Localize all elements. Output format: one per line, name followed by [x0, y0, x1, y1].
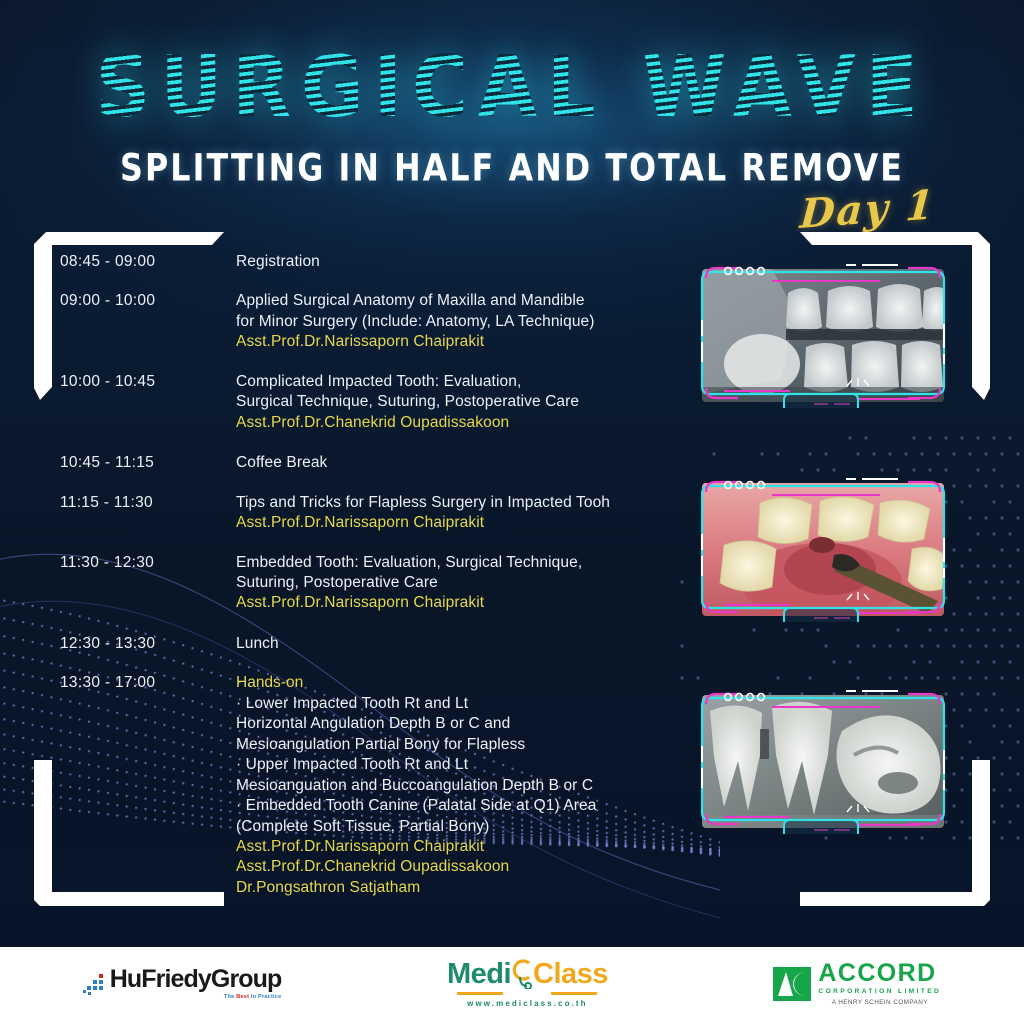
schedule-line: Embedded Tooth: Evaluation, Surgical Tec…: [236, 553, 680, 573]
schedule-line: Mesioangulation Partial Bony for Flaples…: [236, 735, 680, 755]
mediclass-url: www.mediclass.co.th: [467, 999, 588, 1008]
schedule-row: 11:15 - 11:30 Tips and Tricks for Flaple…: [60, 493, 680, 534]
logo-mediclass: Medi Class www.mediclass.co.th: [447, 959, 608, 1008]
title-block: SURGICAL WAVE SPLITTING IN HALF AND TOTA…: [0, 46, 1024, 187]
schedule-line: Registration: [236, 252, 680, 272]
schedule-row: 08:45 - 09:00 Registration: [60, 252, 680, 272]
schedule-line: · Embedded Tooth Canine (Palatal Side at…: [236, 796, 680, 816]
schedule-line: · Lower Impacted Tooth Rt and Lt: [236, 694, 680, 714]
schedule-time: 09:00 - 10:00: [60, 291, 236, 352]
schedule-body: Registration: [236, 252, 680, 272]
schedule-row: 11:30 - 12:30 Embedded Tooth: Evaluation…: [60, 553, 680, 614]
logo-hufriedygroup: HuFriedyGroup The Best In Practice: [83, 967, 282, 1000]
schedule-time: 11:15 - 11:30: [60, 493, 236, 534]
page-title: SURGICAL WAVE: [91, 46, 932, 131]
schedule-body: Applied Surgical Anatomy of Maxilla and …: [236, 291, 680, 352]
tagline-prefix: The: [224, 994, 236, 1000]
schedule-time: 08:45 - 09:00: [60, 252, 236, 272]
schedule-row: 09:00 - 10:00 Applied Surgical Anatomy o…: [60, 291, 680, 352]
surgical-photo-image: [702, 483, 944, 616]
image-card-xray-1: [694, 258, 952, 408]
schedule-row: 10:45 - 11:15 Coffee Break: [60, 453, 680, 473]
schedule-time: 10:00 - 10:45: [60, 372, 236, 433]
tagline-bold: Best: [236, 994, 249, 1000]
schedule-line: Lunch: [236, 634, 680, 654]
schedule-line: Coffee Break: [236, 453, 680, 473]
hufriedy-dots-icon: [83, 972, 107, 996]
handson-heading: Hands-on: [236, 673, 680, 693]
schedule-row: 12:30 - 13:30 Lunch: [60, 634, 680, 654]
schedule-line: Surgical Technique, Suturing, Postoperat…: [236, 392, 680, 412]
schedule-row-handson: 13:30 - 17:00 Hands-on · Lower Impacted …: [60, 673, 680, 898]
schedule-speaker: Asst.Prof.Dr.Narissaporn Chaiprakit: [236, 593, 680, 613]
schedule-time: 11:30 - 12:30: [60, 553, 236, 614]
schedule-list: 08:45 - 09:00 Registration 09:00 - 10:00…: [60, 252, 680, 917]
mediclass-name-part2: Class: [533, 960, 608, 989]
logo-accord: ACCORD CORPORATION LIMITED A HENRY SCHEI…: [773, 961, 941, 1006]
mediclass-name-part1: Medi: [447, 960, 511, 989]
schedule-line: Tips and Tricks for Flapless Surgery in …: [236, 493, 680, 513]
schedule-line: for Minor Surgery (Include: Anatomy, LA …: [236, 312, 680, 332]
schedule-line: (Complete Soft Tissue, Partial Bony): [236, 817, 680, 837]
stethoscope-icon: [509, 959, 535, 989]
image-card-xray-2: [694, 684, 952, 834]
schedule-body: Tips and Tricks for Flapless Surgery in …: [236, 493, 680, 534]
schedule-speaker: Asst.Prof.Dr.Narissaporn Chaiprakit: [236, 332, 680, 352]
schedule-time: 12:30 - 13:30: [60, 634, 236, 654]
schedule-line: Mesioanguation and Buccoangulation Depth…: [236, 776, 680, 796]
schedule-body: Complicated Impacted Tooth: Evaluation, …: [236, 372, 680, 433]
schedule-speaker: Asst.Prof.Dr.Narissaporn Chaiprakit: [236, 837, 680, 857]
schedule-time: 10:45 - 11:15: [60, 453, 236, 473]
mediclass-rule: [457, 992, 597, 995]
schedule-body: Coffee Break: [236, 453, 680, 473]
accord-mark-icon: [773, 967, 811, 1001]
schedule-time: 13:30 - 17:00: [60, 673, 236, 898]
schedule-speaker: Asst.Prof.Dr.Chanekrid Oupadissakoon: [236, 413, 680, 433]
hufriedy-name: HuFriedyGroup: [110, 967, 282, 992]
schedule-line: Complicated Impacted Tooth: Evaluation,: [236, 372, 680, 392]
schedule-line: · Upper Impacted Tooth Rt and Lt: [236, 755, 680, 775]
image-card-surgery: [694, 472, 952, 622]
poster-root: SURGICAL WAVE SPLITTING IN HALF AND TOTA…: [0, 0, 1024, 1020]
schedule-speaker: Asst.Prof.Dr.Narissaporn Chaiprakit: [236, 513, 680, 533]
accord-subtitle: CORPORATION LIMITED: [818, 988, 941, 995]
day-badge: Day 1: [799, 181, 938, 238]
accord-name: ACCORD: [818, 961, 941, 986]
schedule-body: Embedded Tooth: Evaluation, Surgical Tec…: [236, 553, 680, 614]
footer-sponsor-bar: HuFriedyGroup The Best In Practice Medi …: [0, 947, 1024, 1020]
schedule-body: Lunch: [236, 634, 680, 654]
hufriedy-tagline: The Best In Practice: [110, 994, 282, 1000]
schedule-row: 10:00 - 10:45 Complicated Impacted Tooth…: [60, 372, 680, 433]
schedule-line: Applied Surgical Anatomy of Maxilla and …: [236, 291, 680, 311]
tagline-suffix: In Practice: [249, 994, 281, 1000]
xray-panoramic-image: [702, 269, 944, 402]
schedule-body: Hands-on · Lower Impacted Tooth Rt and L…: [236, 673, 680, 898]
schedule-speaker: Dr.Pongsathron Satjatham: [236, 878, 680, 898]
schedule-speaker: Asst.Prof.Dr.Chanekrid Oupadissakoon: [236, 857, 680, 877]
schedule-line: Horizontal Angulation Depth B or C and: [236, 714, 680, 734]
accord-parent-company: A HENRY SCHEIN COMPANY: [818, 999, 941, 1006]
page-subtitle: SPLITTING IN HALF AND TOTAL REMOVE: [20, 146, 1003, 190]
schedule-line: Suturing, Postoperative Care: [236, 573, 680, 593]
xray-impacted-tooth-image: [702, 695, 944, 828]
